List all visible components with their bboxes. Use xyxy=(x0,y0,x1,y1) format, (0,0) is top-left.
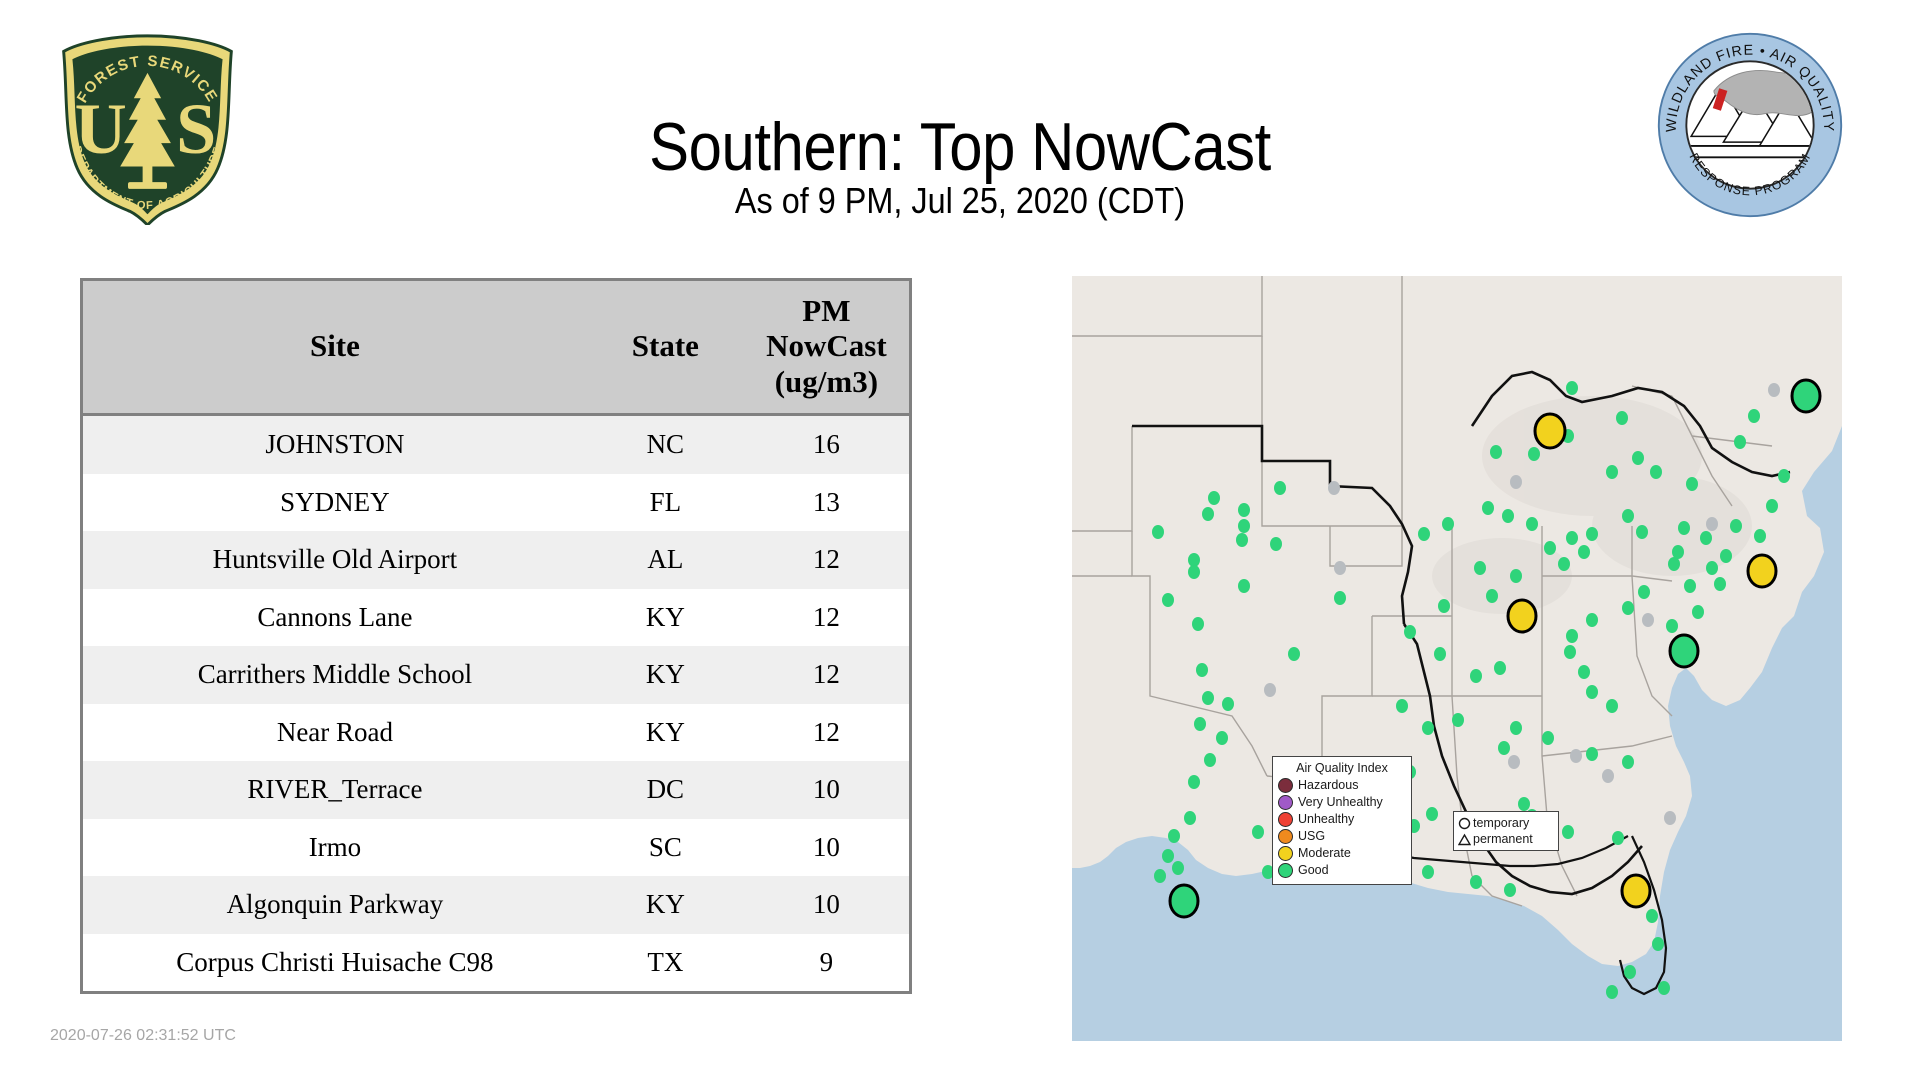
site-type-legend: temporary permanent xyxy=(1453,811,1559,851)
circle-icon xyxy=(1458,817,1473,830)
table-row: Corpus Christi Huisache C98TX9 xyxy=(83,934,909,992)
wildland-fire-air-quality-badge-icon: WILDLAND FIRE • AIR QUALITY RESPONSE PRO… xyxy=(1655,30,1845,220)
table-row: Algonquin ParkwayKY10 xyxy=(83,876,909,934)
legend-title: Air Quality Index xyxy=(1278,761,1406,775)
cell-pm: 12 xyxy=(744,589,909,647)
table-row: SYDNEYFL13 xyxy=(83,474,909,532)
page-title: Southern: Top NowCast xyxy=(115,108,1805,186)
cell-site: RIVER_Terrace xyxy=(83,761,587,819)
map-canvas xyxy=(1072,276,1842,1041)
table-row: Huntsville Old AirportAL12 xyxy=(83,531,909,589)
generated-timestamp: 2020-07-26 02:31:52 UTC xyxy=(50,1027,236,1045)
top-nowcast-table: Site State PM NowCast (ug/m3) JOHNSTONNC… xyxy=(80,278,912,994)
table-row: JOHNSTONNC16 xyxy=(83,415,909,474)
aqi-color-swatch-icon xyxy=(1278,812,1293,827)
cell-pm: 12 xyxy=(744,646,909,704)
cell-site: Algonquin Parkway xyxy=(83,876,587,934)
cell-state: KY xyxy=(587,876,744,934)
legend-label: Moderate xyxy=(1298,847,1351,860)
cell-pm: 12 xyxy=(744,531,909,589)
table-row: IrmoSC10 xyxy=(83,819,909,877)
pm-header-line3: (ug/m3) xyxy=(775,364,878,399)
legend-entry: Good xyxy=(1278,862,1406,879)
table-row: Carrithers Middle SchoolKY12 xyxy=(83,646,909,704)
legend-entry-temporary: temporary xyxy=(1458,815,1554,831)
aqi-color-swatch-icon xyxy=(1278,846,1293,861)
highlight-site-tx-good xyxy=(1170,885,1198,917)
table-row: RIVER_TerraceDC10 xyxy=(83,761,909,819)
cell-pm: 10 xyxy=(744,761,909,819)
pm-header-line2: NowCast xyxy=(766,328,887,363)
cell-state: SC xyxy=(587,819,744,877)
cell-state: DC xyxy=(587,761,744,819)
highlight-site-dc-good xyxy=(1792,380,1820,412)
cell-state: NC xyxy=(587,415,744,474)
cell-site: Carrithers Middle School xyxy=(83,646,587,704)
cell-site: Irmo xyxy=(83,819,587,877)
cell-state: FL xyxy=(587,474,744,532)
table-header-row: Site State PM NowCast (ug/m3) xyxy=(83,281,909,415)
cell-site: JOHNSTON xyxy=(83,415,587,474)
pm-header-line1: PM xyxy=(802,293,850,328)
air-quality-index-legend: Air Quality Index HazardousVery Unhealth… xyxy=(1272,756,1412,885)
column-header-pm-nowcast: PM NowCast (ug/m3) xyxy=(744,281,909,415)
table-row: Cannons LaneKY12 xyxy=(83,589,909,647)
highlight-site-nc-moderate xyxy=(1748,555,1776,587)
cell-pm: 13 xyxy=(744,474,909,532)
cell-site: Near Road xyxy=(83,704,587,762)
column-header-site: Site xyxy=(83,281,587,415)
highlight-site-fl-moderate xyxy=(1622,875,1650,907)
cell-pm: 10 xyxy=(744,876,909,934)
highlight-site-al-moderate xyxy=(1508,600,1536,632)
aqi-color-swatch-icon xyxy=(1278,778,1293,793)
table-row: Near RoadKY12 xyxy=(83,704,909,762)
aqi-color-swatch-icon xyxy=(1278,863,1293,878)
column-header-state: State xyxy=(587,281,744,415)
page-subtitle: As of 9 PM, Jul 25, 2020 (CDT) xyxy=(96,180,1824,222)
legend-label-temporary: temporary xyxy=(1473,816,1529,830)
cell-pm: 16 xyxy=(744,415,909,474)
legend-entry: Moderate xyxy=(1278,845,1406,862)
cell-site: Corpus Christi Huisache C98 xyxy=(83,934,587,992)
highlight-site-sc-good xyxy=(1670,635,1698,667)
legend-label: Unhealthy xyxy=(1298,813,1354,826)
table-body: JOHNSTONNC16SYDNEYFL13Huntsville Old Air… xyxy=(83,415,909,992)
cell-state: KY xyxy=(587,589,744,647)
legend-label: Good xyxy=(1298,864,1329,877)
aqi-color-swatch-icon xyxy=(1278,795,1293,810)
legend-entries: HazardousVery UnhealthyUnhealthyUSGModer… xyxy=(1278,777,1406,879)
cell-site: Huntsville Old Airport xyxy=(83,531,587,589)
legend-entry: USG xyxy=(1278,828,1406,845)
legend-label: Hazardous xyxy=(1298,779,1358,792)
legend-label: USG xyxy=(1298,830,1325,843)
legend-entry-permanent: permanent xyxy=(1458,831,1554,847)
cell-state: KY xyxy=(587,646,744,704)
triangle-icon xyxy=(1458,833,1473,846)
aqi-color-swatch-icon xyxy=(1278,829,1293,844)
legend-entry: Very Unhealthy xyxy=(1278,794,1406,811)
cell-pm: 10 xyxy=(744,819,909,877)
monitor-site-map[interactable]: Air Quality Index HazardousVery Unhealth… xyxy=(1072,276,1842,1041)
legend-label-permanent: permanent xyxy=(1473,832,1533,846)
cell-site: SYDNEY xyxy=(83,474,587,532)
legend-entry: Hazardous xyxy=(1278,777,1406,794)
highlight-site-ky-moderate xyxy=(1535,414,1565,448)
cell-state: TX xyxy=(587,934,744,992)
cell-site: Cannons Lane xyxy=(83,589,587,647)
cell-state: KY xyxy=(587,704,744,762)
legend-entry: Unhealthy xyxy=(1278,811,1406,828)
page-header: FOREST SERVICE DEPARTMENT OF AGRICULTURE… xyxy=(0,0,1920,270)
cell-state: AL xyxy=(587,531,744,589)
cell-pm: 12 xyxy=(744,704,909,762)
cell-pm: 9 xyxy=(744,934,909,992)
legend-label: Very Unhealthy xyxy=(1298,796,1383,809)
